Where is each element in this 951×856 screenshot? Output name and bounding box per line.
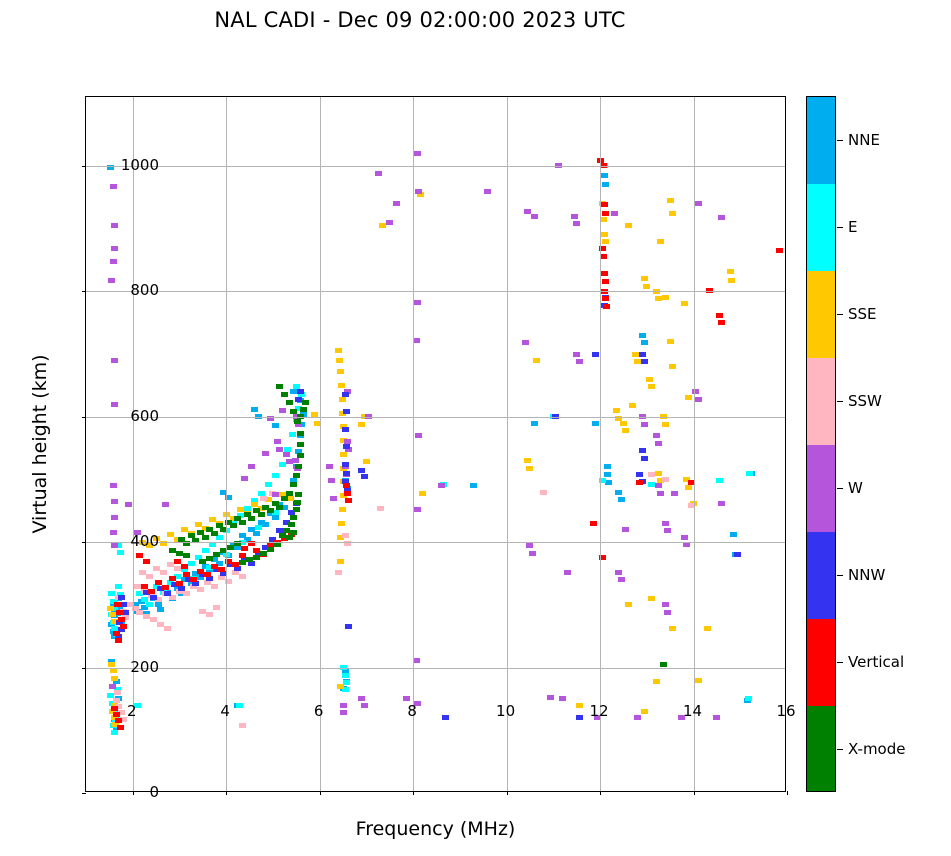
colorbar-label-sse: SSE <box>848 305 877 323</box>
echo-marker-x-mode <box>293 507 300 512</box>
echo-marker-ssw <box>335 570 342 575</box>
colorbar-label-vertical: Vertical <box>848 653 904 671</box>
echo-marker-nnw <box>343 471 350 476</box>
echo-marker-w <box>111 223 118 228</box>
colorbar-tick <box>837 749 843 750</box>
echo-marker-vertical <box>603 304 610 309</box>
y-tick-label: 800 <box>130 281 159 299</box>
y-tick-label: 400 <box>130 532 159 550</box>
colorbar-label-ssw: SSW <box>848 392 882 410</box>
echo-marker-w <box>526 543 533 548</box>
echo-marker-e <box>648 482 655 487</box>
echo-marker-ssw <box>150 617 157 622</box>
x-axis-title: Frequency (MHz) <box>85 818 786 840</box>
echo-marker-x-mode <box>660 662 667 667</box>
echo-marker-w <box>111 402 118 407</box>
echo-marker-x-mode <box>279 533 286 538</box>
echo-marker-x-mode <box>230 523 237 528</box>
echo-marker-vertical <box>602 296 609 301</box>
echo-marker-w <box>671 491 678 496</box>
echo-marker-w <box>611 211 618 216</box>
echo-marker-x-mode <box>288 522 295 527</box>
echo-marker-sse <box>340 452 347 457</box>
colorbar-tick <box>837 575 843 576</box>
x-tick-label: 10 <box>496 702 515 720</box>
echo-marker-e <box>115 584 122 589</box>
echo-marker-ssw <box>113 698 120 703</box>
x-tick-label: 6 <box>314 702 324 720</box>
echo-marker-w <box>330 496 337 501</box>
echo-marker-sse <box>339 397 346 402</box>
echo-marker-nnw <box>150 595 157 600</box>
echo-marker-vertical <box>141 584 148 589</box>
colorbar-segment-sse <box>807 271 835 358</box>
echo-marker-w <box>547 695 554 700</box>
echo-marker-vertical <box>218 567 225 572</box>
y-tick-label: 0 <box>149 783 159 801</box>
echo-marker-w <box>695 397 702 402</box>
echo-marker-sse <box>108 662 115 667</box>
echo-marker-x-mode <box>202 535 209 540</box>
echo-marker-nne <box>531 421 538 426</box>
echo-marker-ssw <box>160 570 167 575</box>
echo-marker-w <box>111 499 118 504</box>
echo-marker-sse <box>110 668 117 673</box>
echo-marker-nne <box>615 490 622 495</box>
echo-marker-w <box>657 491 664 496</box>
echo-marker-w <box>695 201 702 206</box>
echo-marker-nne <box>604 472 611 477</box>
echo-marker-nnw <box>342 392 349 397</box>
echo-marker-w <box>664 528 671 533</box>
echo-marker-sse <box>338 521 345 526</box>
echo-marker-nnw <box>295 397 302 402</box>
echo-marker-nne <box>618 497 625 502</box>
x-gridline <box>133 97 134 791</box>
echo-marker-x-mode <box>297 431 304 436</box>
echo-marker-x-mode <box>248 516 255 521</box>
echo-marker-sse <box>358 422 365 427</box>
echo-marker-x-mode <box>294 419 301 424</box>
echo-marker-x-mode <box>281 496 288 501</box>
echo-marker-w <box>109 684 116 689</box>
echo-marker-w <box>110 184 117 189</box>
echo-marker-e <box>117 550 124 555</box>
echo-marker-sse <box>109 612 116 617</box>
echo-marker-x-mode <box>239 520 246 525</box>
echo-marker-nne <box>470 483 477 488</box>
echo-marker-w <box>414 300 421 305</box>
colorbar-label-nne: NNE <box>848 131 880 149</box>
echo-marker-x-mode <box>227 545 234 550</box>
echo-marker-ssw <box>648 472 655 477</box>
echo-marker-w <box>111 358 118 363</box>
echo-marker-ssw <box>377 506 384 511</box>
echo-marker-sse <box>662 422 669 427</box>
echo-marker-x-mode <box>176 551 183 556</box>
echo-marker-sse <box>704 626 711 631</box>
x-tick <box>694 791 695 795</box>
echo-marker-sse <box>209 517 216 522</box>
echo-marker-x-mode <box>290 409 297 414</box>
echo-marker-nnw <box>639 352 646 357</box>
echo-marker-w <box>111 515 118 520</box>
echo-marker-w <box>415 189 422 194</box>
echo-marker-e <box>111 730 118 735</box>
colorbar-tick <box>837 488 843 489</box>
echo-marker-w <box>110 483 117 488</box>
echo-marker-sse <box>167 532 174 537</box>
echo-marker-vertical <box>204 572 211 577</box>
echo-marker-e <box>272 473 279 478</box>
echo-marker-w <box>326 464 333 469</box>
echo-marker-sse <box>533 358 540 363</box>
echo-marker-e <box>342 673 349 678</box>
echo-marker-nnw <box>636 472 643 477</box>
echo-marker-x-mode <box>297 442 304 447</box>
echo-marker-vertical <box>181 564 188 569</box>
echo-marker-w <box>415 433 422 438</box>
echo-marker-sse <box>655 296 662 301</box>
echo-marker-x-mode <box>258 512 265 517</box>
echo-marker-x-mode <box>290 515 297 520</box>
echo-marker-x-mode <box>294 500 301 505</box>
echo-marker-vertical <box>239 553 246 558</box>
echo-marker-w <box>393 201 400 206</box>
echo-marker-w <box>110 259 117 264</box>
echo-marker-nnw <box>639 448 646 453</box>
echo-marker-vertical <box>183 572 190 577</box>
echo-marker-vertical <box>148 589 155 594</box>
echo-marker-x-mode <box>283 528 290 533</box>
x-tick-label: 14 <box>683 702 702 720</box>
echo-marker-sse <box>601 232 608 237</box>
echo-marker-sse <box>339 507 346 512</box>
colorbar <box>806 96 836 792</box>
echo-marker-vertical <box>716 313 723 318</box>
echo-marker-x-mode <box>286 535 293 540</box>
scatter-canvas <box>86 97 785 791</box>
echo-marker-w <box>413 338 420 343</box>
echo-marker-vertical <box>113 631 120 636</box>
echo-marker-vertical <box>174 559 181 564</box>
echo-marker-sse <box>237 507 244 512</box>
echo-marker-sse <box>657 239 664 244</box>
echo-marker-nnw <box>342 427 349 432</box>
echo-marker-x-mode <box>281 392 288 397</box>
echo-marker-e <box>202 548 209 553</box>
y-gridline <box>86 291 785 292</box>
echo-marker-ssw <box>146 574 153 579</box>
echo-marker-vertical <box>718 320 725 325</box>
x-tick <box>600 791 601 795</box>
echo-marker-sse <box>524 458 531 463</box>
echo-marker-w <box>524 209 531 214</box>
colorbar-label-x-mode: X-mode <box>848 740 905 758</box>
echo-marker-nne <box>641 340 648 345</box>
echo-marker-x-mode <box>300 407 307 412</box>
echo-marker-vertical <box>136 553 143 558</box>
echo-marker-vertical <box>636 480 643 485</box>
echo-marker-ssw <box>540 490 547 495</box>
echo-marker-w <box>662 602 669 607</box>
page-title: NAL CADI - Dec 09 02:00:00 2023 UTC <box>0 8 840 32</box>
echo-marker-sse <box>634 359 641 364</box>
echo-marker-nnw <box>592 352 599 357</box>
echo-marker-w <box>484 189 491 194</box>
echo-marker-w <box>274 439 281 444</box>
echo-marker-w <box>111 543 118 548</box>
echo-marker-w <box>283 452 290 457</box>
y-gridline <box>86 166 785 167</box>
echo-marker-w <box>125 502 132 507</box>
x-tick <box>507 791 508 795</box>
echo-marker-e <box>289 432 296 437</box>
colorbar-tick <box>837 227 843 228</box>
echo-marker-nnw <box>641 359 648 364</box>
echo-marker-e <box>255 525 262 530</box>
echo-marker-w <box>681 535 688 540</box>
x-gridline <box>413 97 414 791</box>
echo-marker-ssw <box>174 566 181 571</box>
echo-marker-sse <box>641 709 648 714</box>
y-tick-label: 1000 <box>121 156 159 174</box>
echo-marker-sse <box>667 339 674 344</box>
echo-marker-vertical <box>115 718 122 723</box>
echo-marker-e <box>236 703 243 708</box>
echo-marker-w <box>655 483 662 488</box>
echo-marker-w <box>361 703 368 708</box>
echo-marker-e <box>343 680 350 685</box>
echo-marker-sse <box>379 223 386 228</box>
echo-marker-vertical <box>602 211 609 216</box>
echo-marker-w <box>713 715 720 720</box>
echo-marker-w <box>529 551 536 556</box>
echo-marker-ssw <box>199 609 206 614</box>
echo-marker-vertical <box>602 279 609 284</box>
echo-marker-ssw <box>239 574 246 579</box>
echo-marker-sse <box>600 217 607 222</box>
echo-marker-sse <box>667 198 674 203</box>
ionogram-plot-area <box>85 96 786 792</box>
echo-marker-ssw <box>134 584 141 589</box>
echo-marker-w <box>576 359 583 364</box>
echo-marker-w <box>438 483 445 488</box>
echo-marker-ssw <box>139 570 146 575</box>
echo-marker-ssw <box>183 591 190 596</box>
echo-marker-sse <box>195 522 202 527</box>
x-gridline <box>507 97 508 791</box>
echo-marker-w <box>292 458 299 463</box>
echo-marker-vertical <box>197 569 204 574</box>
echo-marker-x-mode <box>286 491 293 496</box>
echo-marker-sse <box>629 403 636 408</box>
echo-marker-sse <box>685 485 692 490</box>
echo-marker-e <box>716 478 723 483</box>
echo-marker-nne <box>157 607 164 612</box>
echo-marker-e <box>146 602 153 607</box>
echo-marker-x-mode <box>253 555 260 560</box>
echo-marker-nne <box>592 421 599 426</box>
colorbar-tick <box>837 662 843 663</box>
echo-marker-ssw <box>114 690 121 695</box>
echo-marker-e <box>265 482 272 487</box>
echo-marker-w <box>664 610 671 615</box>
echo-marker-w <box>328 478 335 483</box>
echo-marker-nnw <box>122 610 129 615</box>
echo-marker-nnw <box>361 474 368 479</box>
echo-marker-nne <box>251 407 258 412</box>
y-tick-label: 200 <box>130 658 159 676</box>
echo-marker-sse <box>646 377 653 382</box>
echo-marker-vertical <box>120 624 127 629</box>
echo-marker-ssw <box>153 566 160 571</box>
echo-marker-ssw <box>662 477 669 482</box>
y-gridline <box>86 417 785 418</box>
echo-marker-vertical <box>590 521 597 526</box>
echo-marker-sse <box>669 626 676 631</box>
echo-marker-sse <box>625 223 632 228</box>
echo-marker-x-mode <box>295 492 302 497</box>
echo-marker-e <box>746 471 753 476</box>
echo-marker-vertical <box>116 610 123 615</box>
echo-marker-w <box>655 441 662 446</box>
echo-marker-x-mode <box>211 531 218 536</box>
echo-marker-x-mode <box>169 548 176 553</box>
echo-marker-vertical <box>176 581 183 586</box>
echo-marker-w <box>531 214 538 219</box>
colorbar-segment-nnw <box>807 532 835 619</box>
echo-marker-vertical <box>600 254 607 259</box>
echo-marker-w <box>262 451 269 456</box>
echo-marker-vertical <box>114 602 121 607</box>
echo-marker-w <box>622 527 629 532</box>
echo-marker-vertical <box>169 576 176 581</box>
echo-marker-w <box>276 447 283 452</box>
echo-marker-w <box>414 507 421 512</box>
echo-marker-ssw <box>143 614 150 619</box>
echo-marker-x-mode <box>260 551 267 556</box>
echo-marker-ssw <box>211 584 218 589</box>
x-tick <box>133 791 134 795</box>
colorbar-tick <box>837 314 843 315</box>
echo-marker-nnw <box>345 624 352 629</box>
echo-marker-sse <box>728 278 735 283</box>
colorbar-tick <box>837 140 843 141</box>
echo-marker-nne <box>601 173 608 178</box>
colorbar-segment-ssw <box>807 358 835 445</box>
echo-marker-w <box>718 501 725 506</box>
echo-marker-sse <box>337 369 344 374</box>
echo-marker-sse <box>632 352 639 357</box>
echo-marker-w <box>111 246 118 251</box>
echo-marker-w <box>340 710 347 715</box>
echo-marker-x-mode <box>276 384 283 389</box>
echo-marker-vertical <box>343 483 350 488</box>
y-tick <box>82 793 86 794</box>
echo-marker-nne <box>262 522 269 527</box>
echo-marker-w <box>110 530 117 535</box>
echo-marker-sse <box>681 301 688 306</box>
echo-marker-vertical <box>115 638 122 643</box>
echo-marker-w <box>413 658 420 663</box>
echo-marker-vertical <box>113 712 120 717</box>
echo-marker-sse <box>641 276 648 281</box>
echo-marker-w <box>340 703 347 708</box>
echo-marker-w <box>564 570 571 575</box>
echo-marker-vertical <box>162 585 169 590</box>
colorbar-label-w: W <box>848 479 863 497</box>
echo-marker-e <box>188 561 195 566</box>
echo-marker-nnw <box>343 444 350 449</box>
echo-marker-w <box>634 715 641 720</box>
echo-marker-nne <box>605 480 612 485</box>
echo-marker-sse <box>602 239 609 244</box>
echo-marker-nnw <box>734 552 741 557</box>
echo-marker-nnw <box>641 456 648 461</box>
echo-marker-w <box>286 459 293 464</box>
x-tick <box>787 791 788 795</box>
x-gridline <box>600 97 601 791</box>
echo-marker-ssw <box>167 562 174 567</box>
echo-marker-nnw <box>297 389 304 394</box>
echo-marker-nnw <box>576 715 583 720</box>
echo-marker-e <box>108 591 115 596</box>
echo-marker-sse <box>419 491 426 496</box>
echo-marker-e <box>745 696 752 701</box>
echo-marker-x-mode <box>297 453 304 458</box>
echo-marker-vertical <box>253 548 260 553</box>
x-tick-label: 2 <box>127 702 137 720</box>
echo-marker-vertical <box>190 577 197 582</box>
echo-marker-sse <box>337 559 344 564</box>
echo-marker-w <box>358 696 365 701</box>
echo-marker-nnw <box>164 591 171 596</box>
x-tick-label: 8 <box>407 702 417 720</box>
echo-marker-sse <box>653 679 660 684</box>
echo-marker-w <box>618 577 625 582</box>
echo-marker-sse <box>620 421 627 426</box>
echo-marker-w <box>653 433 660 438</box>
echo-marker-x-mode <box>206 556 213 561</box>
colorbar-label-nnw: NNW <box>848 566 885 584</box>
echo-marker-vertical <box>155 580 162 585</box>
x-gridline <box>694 97 695 791</box>
echo-marker-x-mode <box>267 508 274 513</box>
echo-marker-nnw <box>342 462 349 467</box>
echo-marker-sse <box>338 383 345 388</box>
echo-marker-sse <box>107 606 114 611</box>
echo-marker-sse <box>625 602 632 607</box>
echo-marker-w <box>641 422 648 427</box>
echo-marker-w <box>662 521 669 526</box>
echo-marker-sse <box>685 395 692 400</box>
echo-marker-x-mode <box>199 559 206 564</box>
colorbar-segment-w <box>807 445 835 532</box>
echo-marker-sse <box>662 295 669 300</box>
echo-marker-ssw <box>197 587 204 592</box>
echo-marker-x-mode <box>276 505 283 510</box>
x-tick <box>226 791 227 795</box>
echo-marker-x-mode <box>293 473 300 478</box>
echo-marker-sse <box>363 459 370 464</box>
echo-marker-sse <box>181 527 188 532</box>
echo-marker-nne <box>253 531 260 536</box>
echo-marker-vertical <box>601 202 608 207</box>
echo-marker-nne <box>730 532 737 537</box>
x-tick-label: 4 <box>220 702 230 720</box>
echo-marker-x-mode <box>183 553 190 558</box>
